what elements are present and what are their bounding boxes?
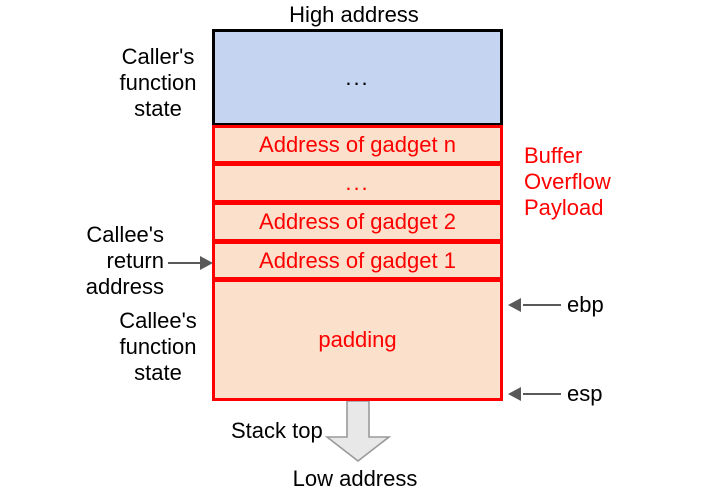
high-address-label: High address	[0, 2, 714, 28]
callee-return-arrow-head-icon	[200, 256, 213, 270]
caller-state-ellipsis: ...	[345, 65, 369, 91]
stack-growth-down-arrow-icon	[325, 401, 391, 463]
stack-cell-gadget-2: Address of gadget 2	[212, 202, 503, 242]
callees-return-address-label: Callee's return address	[64, 222, 164, 300]
gadget-n-text: Address of gadget n	[259, 132, 456, 158]
ebp-arrow-line	[523, 304, 561, 306]
esp-arrow-line	[523, 393, 561, 395]
callees-function-state-label: Callee's function state	[110, 308, 206, 386]
padding-text: padding	[318, 327, 396, 353]
low-address-label: Low address	[0, 466, 715, 492]
stack-cell-gadget-ellipsis: ...	[212, 163, 503, 203]
stack-cell-padding: padding	[212, 279, 503, 401]
buffer-overflow-payload-label: Buffer Overflow Payload	[524, 143, 654, 221]
stack-cell-gadget-1: Address of gadget 1	[212, 241, 503, 280]
esp-register-label: esp	[567, 381, 602, 407]
stack-layout: ... Address of gadget n ... Address of g…	[212, 29, 503, 401]
diagram-canvas: High address Low address Stack top Calle…	[0, 0, 720, 498]
gadget-1-text: Address of gadget 1	[259, 248, 456, 274]
callers-function-state-label: Caller's function state	[110, 44, 206, 122]
ebp-arrow-head-icon	[508, 298, 521, 312]
callee-return-arrow-line	[168, 262, 201, 264]
esp-arrow-head-icon	[508, 387, 521, 401]
stack-cell-gadget-n: Address of gadget n	[212, 125, 503, 164]
stack-cell-callers-function-state: ...	[212, 29, 503, 126]
gadget-2-text: Address of gadget 2	[259, 209, 456, 235]
gadget-ellipsis-text: ...	[345, 170, 369, 196]
ebp-register-label: ebp	[567, 292, 604, 318]
stack-top-label: Stack top	[231, 418, 323, 444]
